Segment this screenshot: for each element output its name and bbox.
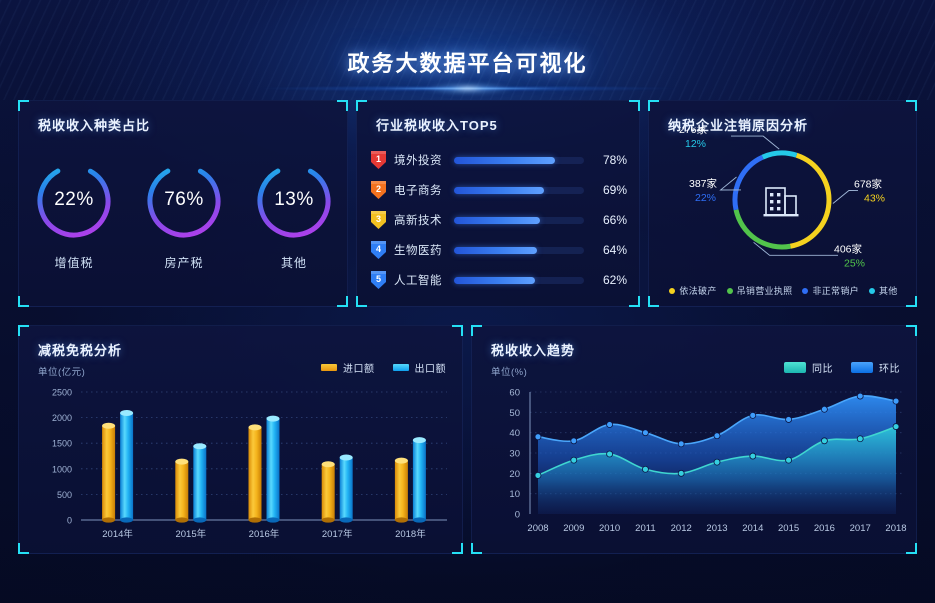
legend-swatch-icon <box>851 362 873 373</box>
corner-bracket-bl <box>356 296 367 307</box>
bar-base <box>395 517 408 522</box>
donut-segment-4[interactable] <box>763 153 797 157</box>
panel-title-industry-top5: 行业税收收入TOP5 <box>376 115 498 134</box>
top5-percent: 78% <box>593 153 627 167</box>
bar-base <box>267 517 280 522</box>
trend-ytick-label: 60 <box>509 388 520 399</box>
corner-bracket-tl <box>18 325 29 336</box>
trend-point-同比-2014[interactable] <box>750 453 756 459</box>
rank-number: 3 <box>371 211 386 229</box>
bar-ytick-label: 1000 <box>52 464 72 474</box>
top5-percent: 64% <box>593 243 627 257</box>
bar-进口额-2018年[interactable] <box>395 461 408 520</box>
bar-cap <box>249 424 262 430</box>
bar-进口额-2016年[interactable] <box>249 427 262 520</box>
gauge-value-1: 22% <box>28 189 120 211</box>
bar-cap <box>120 410 133 416</box>
legend-label: 依法破产 <box>679 284 716 297</box>
trend-xtick-label: 2018 <box>885 523 906 534</box>
trend-ytick-label: 30 <box>509 449 520 460</box>
trend-ytick-label: 0 <box>515 510 520 521</box>
callout-count-4: 276家 <box>679 127 708 136</box>
trend-point-同比-2012[interactable] <box>678 470 684 476</box>
corner-bracket-tr <box>337 100 348 111</box>
gauge-1: 22%增值税 <box>28 159 120 299</box>
top5-row[interactable]: 4生物医药64% <box>371 235 627 265</box>
bar-ytick-label: 2000 <box>52 413 72 423</box>
callout-percent-3: 22% <box>695 192 716 204</box>
top5-bar-fill <box>454 277 535 284</box>
rank-badge-icon: 4 <box>371 241 386 259</box>
bar-ytick-label: 0 <box>67 516 72 526</box>
panel-tax-share: 税收收入种类占比 22%增值税76%房产税13%其他 <box>18 100 348 307</box>
rank-number: 1 <box>371 151 386 169</box>
panel-tax-trend: 税收收入趋势 单位(%) 同比环比 0102030405060200820092… <box>471 325 917 554</box>
top5-percent: 69% <box>593 183 627 197</box>
trend-xtick-label: 2013 <box>706 523 727 534</box>
panel-title-tax-trend: 税收收入趋势 <box>491 340 575 359</box>
callout-percent-2: 25% <box>844 257 865 269</box>
legend-swatch-icon <box>784 362 806 373</box>
legend-dot-icon <box>727 288 733 294</box>
trend-chart-unit-label: 单位(%) <box>491 364 527 378</box>
gauge-3: 13%其他 <box>248 159 340 299</box>
bar-base <box>340 517 353 522</box>
corner-bracket-tr <box>452 325 463 336</box>
trend-legend-item-2[interactable]: 环比 <box>851 360 900 375</box>
bar-base <box>193 517 206 522</box>
trend-point-同比-2009[interactable] <box>571 457 577 463</box>
top5-bar-track <box>454 157 584 164</box>
dashboard-root: 政务大数据平台可视化 税收收入种类占比 22%增值税76%房产税13%其他 行业… <box>0 0 935 603</box>
bar-cap <box>395 458 408 464</box>
bar-base <box>322 517 335 522</box>
title-glow-core <box>423 82 513 95</box>
trend-ytick-label: 40 <box>509 428 520 439</box>
top5-row[interactable]: 3高新技术66% <box>371 205 627 235</box>
rank-badge-icon: 1 <box>371 151 386 169</box>
gauge-row: 22%增值税76%房产税13%其他 <box>19 159 349 299</box>
cancel-reason-donut-chart: 678家43%406家25%387家22%276家12% <box>649 127 918 277</box>
bar-进口额-2015年[interactable] <box>175 462 188 520</box>
callout-count-2: 406家 <box>834 242 863 255</box>
legend-dot-icon <box>869 288 875 294</box>
rank-number: 2 <box>371 181 386 199</box>
donut-legend: 依法破产吊销营业执照非正常销户其他 <box>649 284 918 297</box>
corner-bracket-br <box>906 296 917 307</box>
rank-number: 4 <box>371 241 386 259</box>
rank-badge-icon: 5 <box>371 271 386 289</box>
trend-xtick-label: 2008 <box>527 523 548 534</box>
trend-point-环比-2016[interactable] <box>821 406 827 412</box>
donut-svg: 678家43%406家25%387家22%276家12% <box>649 127 918 277</box>
callout-leader-line-1 <box>833 190 858 203</box>
trend-xtick-label: 2010 <box>599 523 620 534</box>
rank-badge-icon: 2 <box>371 181 386 199</box>
corner-bracket-tr <box>906 325 917 336</box>
bar-cap <box>102 423 115 429</box>
top5-row[interactable]: 2电子商务69% <box>371 175 627 205</box>
gauge-value-2: 76% <box>138 189 230 211</box>
corner-bracket-tl <box>471 325 482 336</box>
trend-point-环比-2010[interactable] <box>607 422 613 428</box>
top5-bar-fill <box>454 157 555 164</box>
trend-point-同比-2016[interactable] <box>821 438 827 444</box>
top5-bar-track <box>454 187 584 194</box>
legend-dot-icon <box>669 288 675 294</box>
top5-name: 境外投资 <box>394 152 452 168</box>
bar-出口额-2017年[interactable] <box>340 458 353 520</box>
trend-point-同比-2015[interactable] <box>786 457 792 463</box>
corner-bracket-br <box>629 296 640 307</box>
trend-xtick-label: 2016 <box>814 523 835 534</box>
bar-出口额-2014年[interactable] <box>120 413 133 520</box>
top5-name: 电子商务 <box>394 182 452 198</box>
bar-base <box>175 517 188 522</box>
trend-point-环比-2014[interactable] <box>750 412 756 418</box>
top5-name: 生物医药 <box>394 242 452 258</box>
trend-point-同比-2013[interactable] <box>714 459 720 465</box>
legend-label: 其他 <box>879 284 898 297</box>
bar-ytick-label: 1500 <box>52 439 72 449</box>
bar-legend-item-2[interactable]: 出口额 <box>393 360 447 375</box>
top5-name: 高新技术 <box>394 212 452 228</box>
bar-chart-unit-label: 单位(亿元) <box>38 364 85 378</box>
trend-ytick-label: 10 <box>509 489 520 500</box>
bar-cap <box>413 437 426 443</box>
trend-point-同比-2018[interactable] <box>893 424 899 430</box>
panel-title-tax-share: 税收收入种类占比 <box>38 115 150 134</box>
bar-ytick-label: 2500 <box>52 388 72 398</box>
panel-title-tax-relief: 减税免税分析 <box>38 340 122 359</box>
gauge-value-3: 13% <box>248 189 340 211</box>
bar-xtick-label: 2015年 <box>175 528 206 540</box>
top5-bar-track <box>454 247 584 254</box>
trend-legend-item-1[interactable]: 同比 <box>784 360 833 375</box>
trend-ytick-label: 20 <box>509 469 520 480</box>
donut-legend-item-4[interactable]: 其他 <box>869 284 898 297</box>
trend-point-环比-2012[interactable] <box>678 441 684 447</box>
bar-出口额-2016年[interactable] <box>267 419 280 520</box>
gauge-label-2: 房产税 <box>138 254 230 271</box>
top5-bar-fill <box>454 247 537 254</box>
gauge-label-3: 其他 <box>248 254 340 271</box>
legend-label: 同比 <box>812 360 833 375</box>
panel-tax-relief: 减税免税分析 单位(亿元) 进口额出口额 0500100015002000250… <box>18 325 463 554</box>
trend-point-同比-2017[interactable] <box>857 436 863 442</box>
corner-bracket-tl <box>648 100 659 111</box>
bar-legend-item-1[interactable]: 进口额 <box>321 360 375 375</box>
legend-label: 出口额 <box>415 360 447 375</box>
callout-count-1: 678家 <box>854 177 883 190</box>
panel-cancel-reason: 纳税企业注销原因分析 678家43%406家25%387家22%276家12% … <box>648 100 917 307</box>
gauge-label-1: 增值税 <box>28 254 120 271</box>
trend-ytick-label: 50 <box>509 408 520 419</box>
corner-bracket-tr <box>629 100 640 111</box>
bar-xtick-label: 2017年 <box>322 528 353 540</box>
corner-bracket-bl <box>648 296 659 307</box>
trend-point-同比-2008[interactable] <box>535 472 541 478</box>
donut-legend-item-1[interactable]: 依法破产 <box>669 284 716 297</box>
bar-出口额-2015年[interactable] <box>193 446 206 520</box>
bar-base <box>249 517 262 522</box>
trend-xtick-label: 2011 <box>635 523 655 534</box>
donut-legend-item-3[interactable]: 非正常销户 <box>802 284 859 297</box>
trend-point-环比-2009[interactable] <box>571 438 577 444</box>
gauge-2: 76%房产税 <box>138 159 230 299</box>
trend-point-环比-2017[interactable] <box>857 393 863 399</box>
legend-label: 非正常销户 <box>812 284 859 297</box>
rank-number: 5 <box>371 271 386 289</box>
bar-cap <box>322 461 335 467</box>
top5-list: 1境外投资78%2电子商务69%3高新技术66%4生物医药64%5人工智能62% <box>371 145 627 295</box>
legend-label: 进口额 <box>343 360 375 375</box>
trend-point-同比-2011[interactable] <box>642 466 648 472</box>
top5-row[interactable]: 1境外投资78% <box>371 145 627 175</box>
rank-badge-icon: 3 <box>371 211 386 229</box>
legend-label: 吊销营业执照 <box>737 284 793 297</box>
top5-name: 人工智能 <box>394 272 452 288</box>
legend-swatch-icon <box>393 364 409 371</box>
bar-base <box>413 517 426 522</box>
page-title: 政务大数据平台可视化 <box>0 46 935 78</box>
trend-chart-legend: 同比环比 <box>784 360 900 375</box>
trend-point-环比-2011[interactable] <box>642 430 648 436</box>
callout-count-3: 387家 <box>689 177 718 190</box>
bar-出口额-2018年[interactable] <box>413 440 426 520</box>
building-icon <box>764 188 799 216</box>
top5-bar-track <box>454 217 584 224</box>
donut-segment-3[interactable] <box>735 157 763 210</box>
tax-relief-bar-chart: 050010001500200025002014年2015年2016年2017年… <box>19 382 464 550</box>
trend-xtick-label: 2015 <box>778 523 799 534</box>
trend-point-环比-2013[interactable] <box>714 433 720 439</box>
corner-bracket-tl <box>18 100 29 111</box>
trend-xtick-label: 2014 <box>742 523 763 534</box>
top5-bar-fill <box>454 187 544 194</box>
donut-legend-item-2[interactable]: 吊销营业执照 <box>727 284 793 297</box>
bar-cap <box>267 416 280 422</box>
tax-trend-area-chart: 0102030405060200820092010201120122013201… <box>472 382 918 550</box>
bar-cap <box>193 443 206 449</box>
bar-进口额-2014年[interactable] <box>102 426 115 520</box>
top5-percent: 62% <box>593 273 627 287</box>
trend-point-环比-2018[interactable] <box>893 398 899 404</box>
callout-percent-1: 43% <box>864 192 885 204</box>
top5-bar-fill <box>454 217 540 224</box>
bar-chart-legend: 进口额出口额 <box>321 360 446 375</box>
bar-cap <box>175 459 188 465</box>
panel-industry-top5: 行业税收收入TOP5 1境外投资78%2电子商务69%3高新技术66%4生物医药… <box>356 100 640 307</box>
bar-进口额-2017年[interactable] <box>322 464 335 520</box>
bar-xtick-label: 2014年 <box>102 528 133 540</box>
trend-xtick-label: 2012 <box>671 523 692 534</box>
bar-xtick-label: 2016年 <box>249 528 280 540</box>
bar-chart-svg: 050010001500200025002014年2015年2016年2017年… <box>19 382 464 550</box>
bar-base <box>120 517 133 522</box>
legend-label: 环比 <box>879 360 900 375</box>
trend-xtick-label: 2009 <box>563 523 584 534</box>
top5-row[interactable]: 5人工智能62% <box>371 265 627 295</box>
callout-percent-4: 12% <box>685 138 706 150</box>
trend-point-同比-2010[interactable] <box>607 451 613 457</box>
bar-cap <box>340 455 353 461</box>
bar-xtick-label: 2018年 <box>395 528 426 540</box>
corner-bracket-tr <box>906 100 917 111</box>
trend-point-环比-2008[interactable] <box>535 434 541 440</box>
trend-chart-svg: 0102030405060200820092010201120122013201… <box>472 382 918 550</box>
dashboard-header: 政务大数据平台可视化 <box>0 0 935 100</box>
trend-point-环比-2015[interactable] <box>786 416 792 422</box>
legend-swatch-icon <box>321 364 337 371</box>
callout-leader-line-4 <box>731 136 779 149</box>
trend-xtick-label: 2017 <box>850 523 871 534</box>
legend-dot-icon <box>802 288 808 294</box>
bar-base <box>102 517 115 522</box>
bar-ytick-label: 500 <box>57 490 72 500</box>
top5-bar-track <box>454 277 584 284</box>
corner-bracket-tl <box>356 100 367 111</box>
top5-percent: 66% <box>593 213 627 227</box>
